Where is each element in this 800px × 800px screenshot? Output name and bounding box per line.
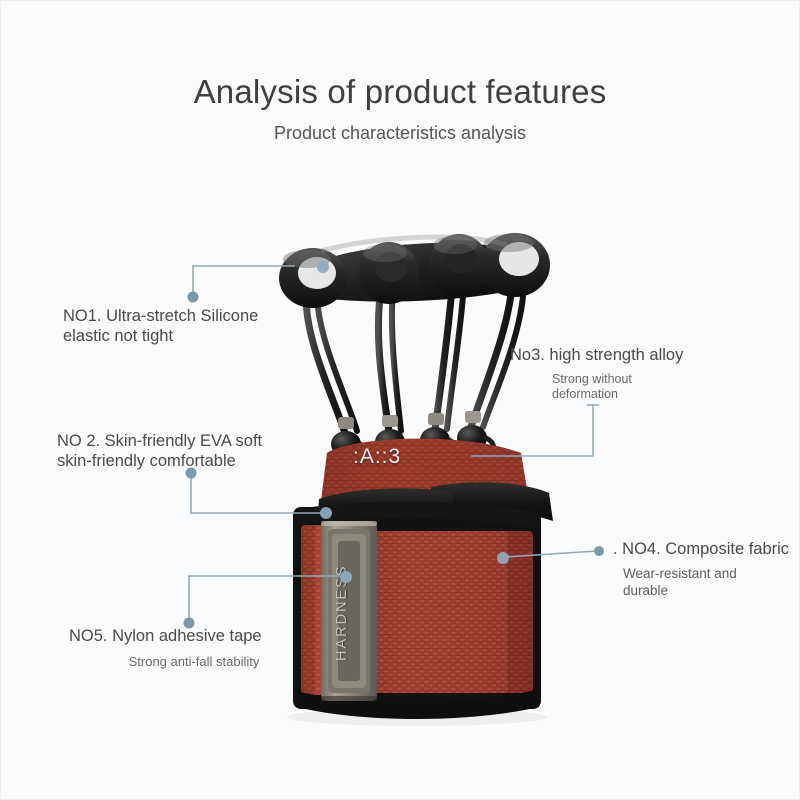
infographic-page: Analysis of product features Product cha… bbox=[0, 0, 800, 800]
callout-no2: NO 2. Skin-friendly EVA soft skin-friend… bbox=[57, 431, 327, 471]
callout-no2-heading: NO 2. Skin-friendly EVA soft skin-friend… bbox=[57, 431, 327, 471]
callout-no1: NO1. Ultra-stretch Silicone elastic not … bbox=[63, 306, 313, 346]
finger-ring-1 bbox=[279, 248, 347, 308]
callout-no5-heading: NO5. Nylon adhesive tape bbox=[69, 626, 319, 646]
callout-no3-heading: No3. high strength alloy bbox=[510, 345, 740, 365]
callout-no5: NO5. Nylon adhesive tape Strong anti-fal… bbox=[69, 626, 319, 669]
callout-no3: No3. high strength alloy Strong without … bbox=[510, 345, 740, 402]
callout-no4-sub: Wear-resistant and durable bbox=[623, 565, 793, 599]
rod-collars bbox=[338, 411, 481, 429]
callout-no4-heading: . NO4. Composite fabric bbox=[613, 539, 793, 559]
product-overlay-code: :A::3 bbox=[353, 445, 401, 469]
finger-ring-2 bbox=[359, 242, 419, 304]
buckle-label: HARDNESS bbox=[334, 528, 356, 698]
callout-no4: . NO4. Composite fabric Wear-resistant a… bbox=[613, 539, 793, 599]
callout-no3-sub: Strong without deformation bbox=[552, 372, 740, 402]
callout-no1-heading: NO1. Ultra-stretch Silicone elastic not … bbox=[63, 306, 313, 346]
callout-no5-sub: Strong anti-fall stability bbox=[69, 654, 319, 669]
